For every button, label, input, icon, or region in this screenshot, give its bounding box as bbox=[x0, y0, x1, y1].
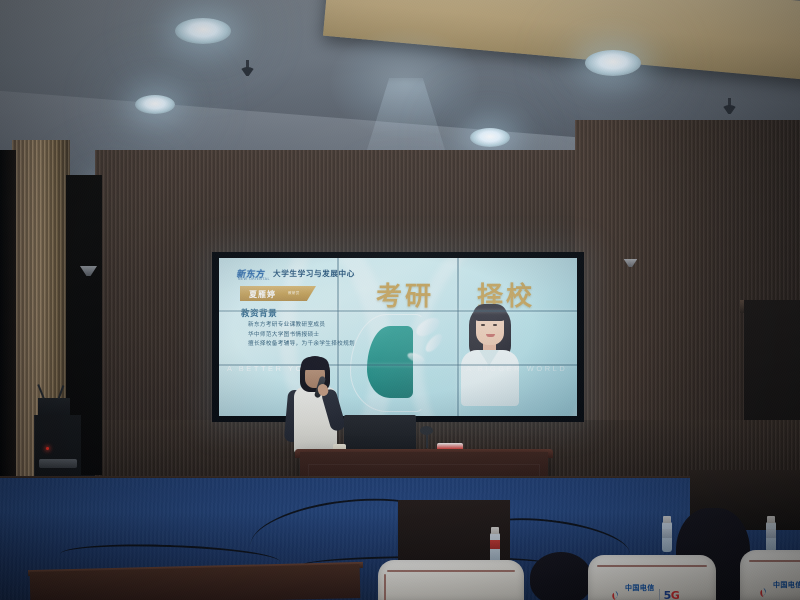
ceiling-downlight bbox=[585, 50, 641, 76]
panel-seam bbox=[457, 258, 459, 416]
5g-badge: 5G bbox=[664, 589, 680, 600]
ceiling-beam bbox=[323, 0, 800, 86]
china-telecom-logo: 中国电信 CHINA TELECOM 5G bbox=[758, 574, 800, 600]
sprinkler-icon bbox=[722, 98, 737, 115]
water-bottle bbox=[490, 533, 500, 563]
mic-head-icon bbox=[420, 426, 433, 435]
seat-front-left[interactable] bbox=[378, 560, 524, 600]
leaf-graphic bbox=[367, 326, 413, 398]
speaker-name: 夏雁婷 bbox=[249, 289, 276, 300]
seat-front-right[interactable]: 中国电信 CHINA TELECOM 5G bbox=[740, 550, 800, 600]
seat-front-center[interactable]: 中国电信 CHINA TELECOM 5G bbox=[588, 555, 716, 600]
ceiling-downlight bbox=[470, 128, 510, 147]
presenter-fringe bbox=[301, 357, 329, 370]
china-telecom-logo: 中国电信 CHINA TELECOM 5G bbox=[610, 577, 679, 600]
china-telecom-mark-icon bbox=[758, 587, 769, 598]
sprinkler-icon bbox=[240, 60, 255, 77]
water-bottle bbox=[662, 522, 672, 552]
panel-seam bbox=[219, 364, 577, 366]
ceiling-downlight bbox=[135, 95, 175, 114]
audience-head bbox=[530, 552, 592, 600]
slide-portrait bbox=[459, 296, 521, 404]
slide-title-left: 考研 bbox=[376, 276, 434, 313]
water-bottle bbox=[766, 522, 776, 552]
new-oriental-logo-sub: NEW ORIENTAL bbox=[238, 277, 270, 281]
speaker-name-banner: 夏雁婷 教研员 bbox=[240, 286, 316, 301]
china-telecom-name-cn: 中国电信 bbox=[625, 584, 655, 592]
china-telecom-name-cn: 中国电信 bbox=[773, 581, 800, 589]
section-heading: 教资背景 bbox=[241, 307, 277, 319]
presentation-screen[interactable]: 新东方 NEW ORIENTAL 大学生学习与发展中心 夏雁婷 教研员 教资背景… bbox=[219, 258, 577, 416]
china-telecom-mark-icon bbox=[610, 590, 621, 600]
speaker-role: 教研员 bbox=[288, 291, 300, 296]
ceiling-downlight bbox=[175, 18, 231, 44]
lecture-hall-photo: 新东方 NEW ORIENTAL 大学生学习与发展中心 夏雁婷 教研员 教资背景… bbox=[0, 0, 800, 600]
panel-seam bbox=[219, 310, 577, 312]
center-name-label: 大学生学习与发展中心 bbox=[273, 268, 355, 279]
